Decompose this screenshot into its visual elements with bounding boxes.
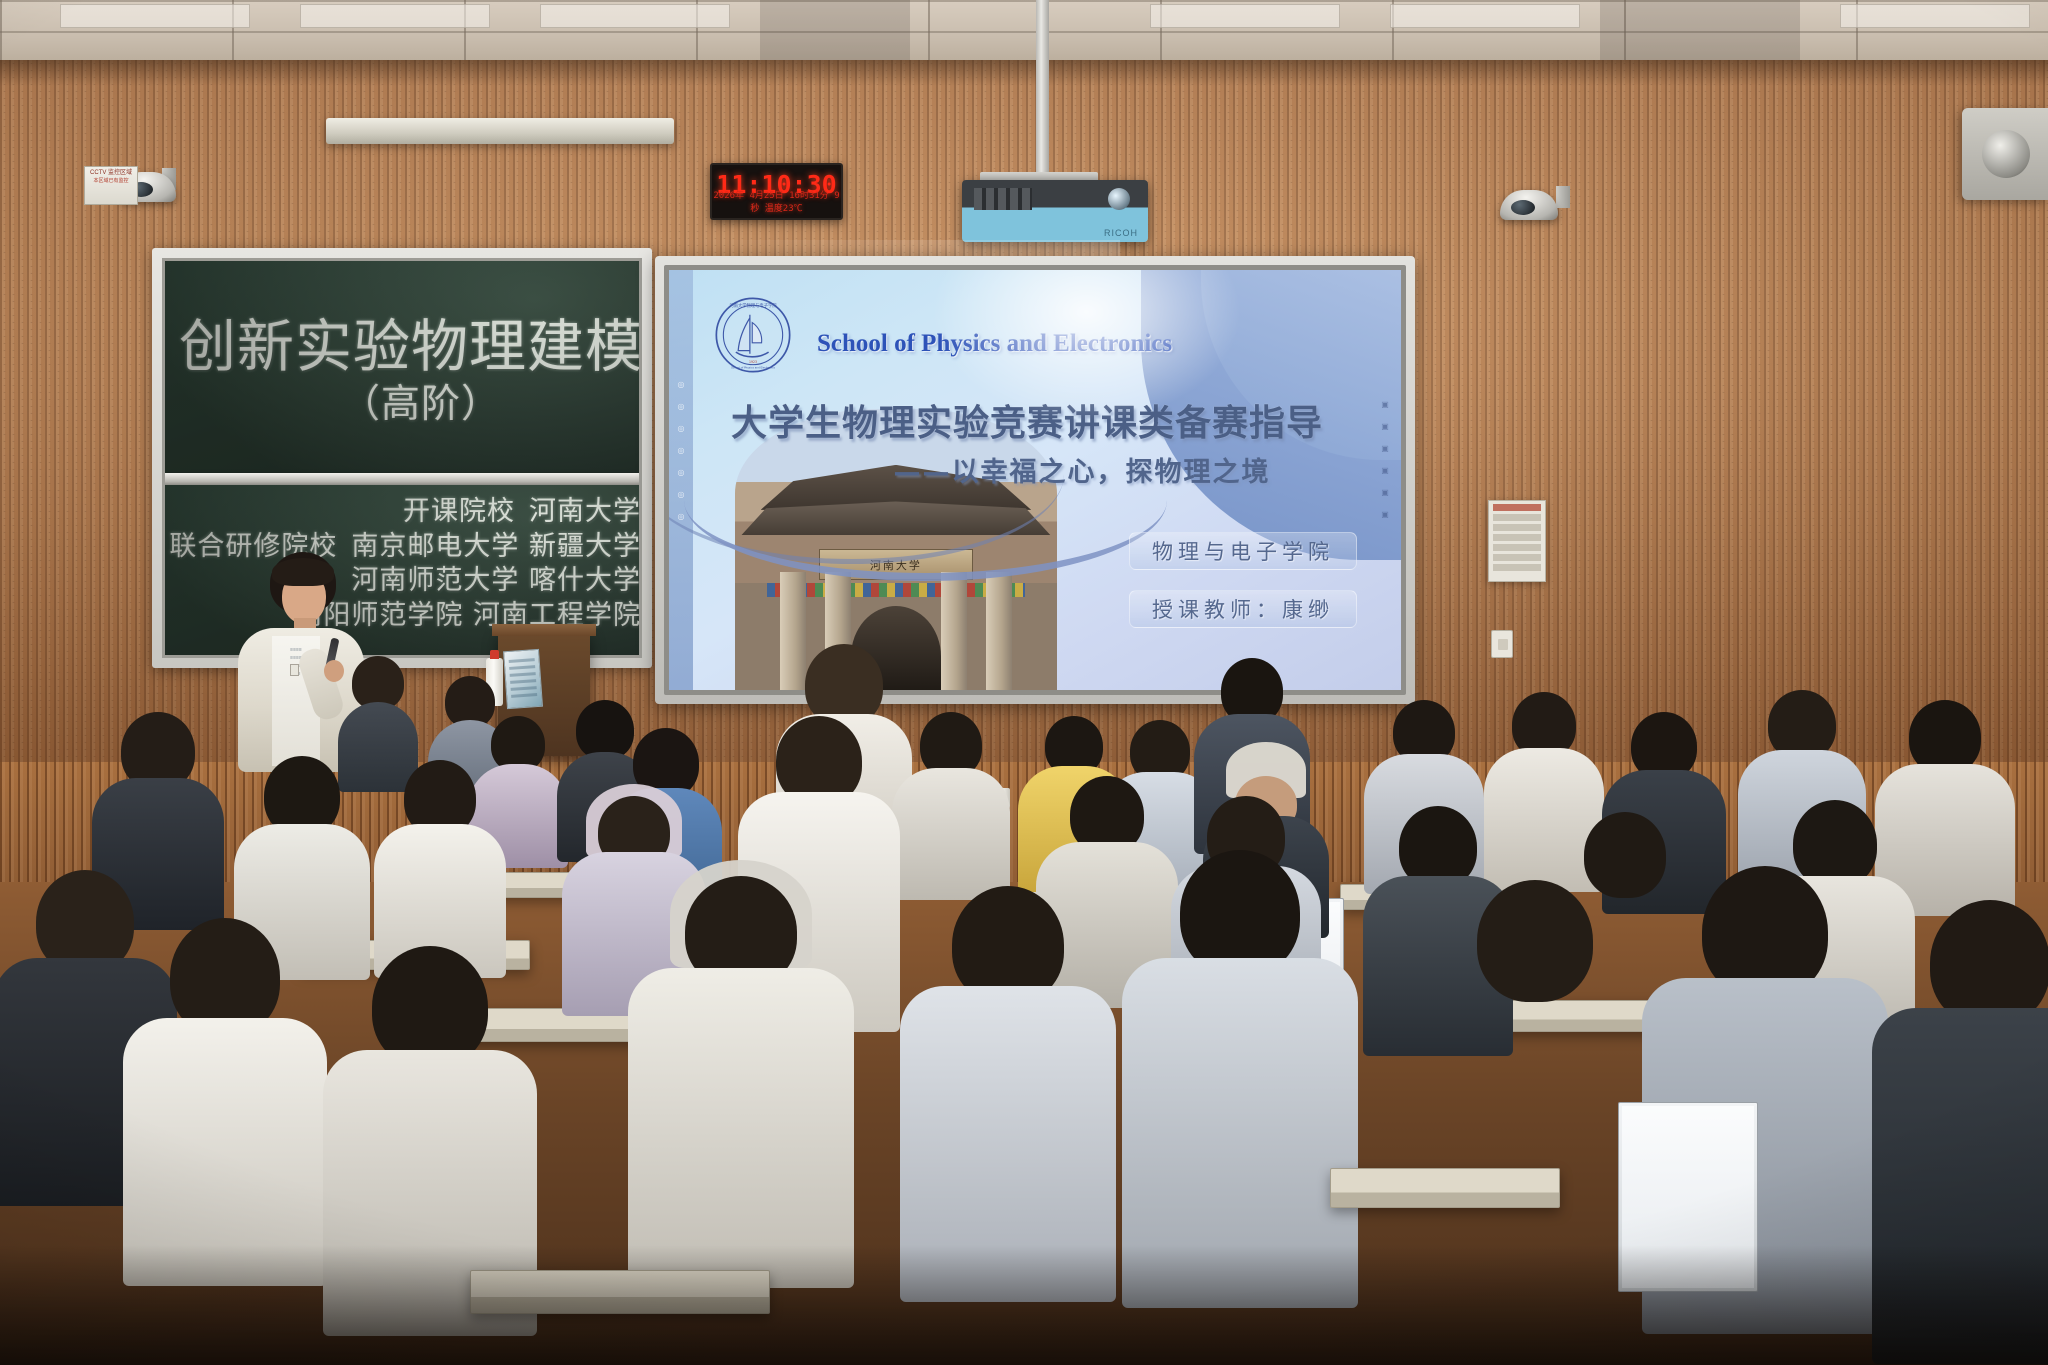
blackboard-unit: 创新实验物理建模 （高阶） 开课院校 河南大学 联合研修院校 南京邮电大学 新疆… xyxy=(152,248,652,668)
tick: ▣ xyxy=(1381,466,1389,475)
projection-screen-housing: ◎ ◎ ◎ ◎ ◎ ◎ ◎ 河南大学 xyxy=(655,256,1415,704)
tick: ▣ xyxy=(1381,510,1389,519)
blackboard-title: 创新实验物理建模 xyxy=(179,319,639,376)
slide-department-pill: 物理与电子学院 xyxy=(1129,532,1357,570)
svg-text:School of Physics and Electron: School of Physics and Electronics xyxy=(731,366,775,370)
row-label: 开课院校 xyxy=(403,495,515,530)
slide-instructor-pill: 授课教师：康缈 xyxy=(1129,590,1357,628)
student xyxy=(1880,900,2048,1360)
wall-notice-board xyxy=(1488,500,1546,582)
notice-row xyxy=(1493,554,1541,561)
camera-mount-right xyxy=(1556,186,1570,208)
notice-row xyxy=(1493,504,1541,511)
student xyxy=(908,886,1108,1296)
student-body xyxy=(1872,1008,2048,1364)
notice-row xyxy=(1493,544,1541,551)
slide-right-ticks: ▣ ▣ ▣ ▣ ▣ ▣ xyxy=(1377,400,1393,650)
student xyxy=(1130,850,1350,1300)
blackboard-upper-panel: 创新实验物理建模 （高阶） xyxy=(165,261,639,473)
instructor-fringe xyxy=(272,558,334,586)
projector-mount-pole xyxy=(1036,0,1049,178)
ceiling-panel xyxy=(540,4,730,28)
chalk-tray xyxy=(165,473,639,485)
ceiling-projector: RICOH xyxy=(962,180,1148,242)
cctv-warning-sign: CCTV 监控区域 本区域已有监控 xyxy=(84,166,138,205)
book-page-lines xyxy=(509,658,538,702)
student xyxy=(636,860,846,1280)
university-seal-logo-icon: 河南大学物理与电子学院 School of Physics and Electr… xyxy=(714,296,792,374)
ceiling-panel xyxy=(300,4,490,28)
projector-brand-label: RICOH xyxy=(1104,228,1138,238)
projector-lens-icon xyxy=(1108,188,1130,210)
speaker-cone-icon xyxy=(1982,130,2030,178)
ceiling-shadow xyxy=(1600,0,1800,62)
cctv-sign-line2: 本区域已有监控 xyxy=(85,178,137,186)
blackboard-subtitle: （高阶） xyxy=(341,385,501,424)
student xyxy=(1430,880,1640,1310)
student xyxy=(330,946,530,1326)
tick: ◎ xyxy=(678,380,685,389)
presentation-slide[interactable]: ◎ ◎ ◎ ◎ ◎ ◎ ◎ 河南大学 xyxy=(669,270,1401,690)
gate-column xyxy=(941,572,967,690)
student-desk-front xyxy=(470,1270,770,1314)
instructor-badge xyxy=(290,664,299,676)
ceiling-panel xyxy=(1840,4,2030,28)
student-body xyxy=(892,768,1010,900)
student xyxy=(378,760,502,974)
ceiling-panel xyxy=(60,4,250,28)
slide-subtitle: ——以幸福之心，探物理之境 xyxy=(669,450,1385,489)
tick: ▣ xyxy=(1381,444,1389,453)
row-value: 河南大学 xyxy=(529,495,639,530)
ceiling-shadow xyxy=(760,0,910,62)
cctv-camera-right xyxy=(1500,190,1558,220)
student xyxy=(130,918,320,1278)
row-value: 河南师范大学 喀什大学 xyxy=(351,564,639,599)
projection-screen-bezel: ◎ ◎ ◎ ◎ ◎ ◎ ◎ 河南大学 xyxy=(664,265,1406,695)
student-body xyxy=(628,968,854,1288)
classroom-scene: CCTV 监控区域 本区域已有监控 11:10:30 2026年 4月25日 1… xyxy=(0,0,2048,1365)
slide-english-header: School of Physics and Electronics xyxy=(817,330,1172,358)
student-laptop-front[interactable] xyxy=(1618,1102,1758,1292)
laptop-screen xyxy=(1622,1106,1754,1288)
row-value: 南京邮电大学 新疆大学 xyxy=(351,530,639,565)
notice-row xyxy=(1493,524,1541,531)
led-wall-clock: 11:10:30 2026年 4月25日 16时31分 9秒 温度23℃ xyxy=(710,163,843,220)
cctv-sign-line1: CCTV 监控区域 xyxy=(85,169,137,178)
clock-date: 2026年 4月25日 16时31分 9秒 温度23℃ xyxy=(712,188,841,214)
slide-main-title: 大学生物理实验竞赛讲课类备赛指导 xyxy=(669,394,1385,446)
svg-text:1923: 1923 xyxy=(749,360,757,364)
student-desk-front xyxy=(1330,1168,1560,1208)
tick: ▣ xyxy=(1381,422,1389,431)
notice-row xyxy=(1493,564,1541,571)
tick: ▣ xyxy=(1381,400,1389,409)
student-body xyxy=(1422,984,1648,1316)
blackboard-list-row: 开课院校 河南大学 xyxy=(179,495,639,530)
ceiling xyxy=(0,0,2048,62)
student-head xyxy=(1909,700,1981,774)
ceiling-panel xyxy=(1150,4,1340,28)
wall-speaker xyxy=(1962,108,2048,200)
tick: ▣ xyxy=(1381,488,1389,497)
lectern-top xyxy=(492,624,596,636)
student xyxy=(896,712,1006,892)
notice-row xyxy=(1493,514,1541,521)
student-body xyxy=(900,986,1116,1302)
ceiling-panel xyxy=(1390,4,1580,28)
projector-vent-icon xyxy=(974,188,1032,210)
student-body xyxy=(1122,958,1358,1308)
gate-column xyxy=(986,572,1012,690)
notice-row xyxy=(1493,534,1541,541)
student-body xyxy=(123,1018,327,1286)
wall-power-socket[interactable] xyxy=(1491,630,1513,658)
wall-light-fixture xyxy=(326,118,674,144)
